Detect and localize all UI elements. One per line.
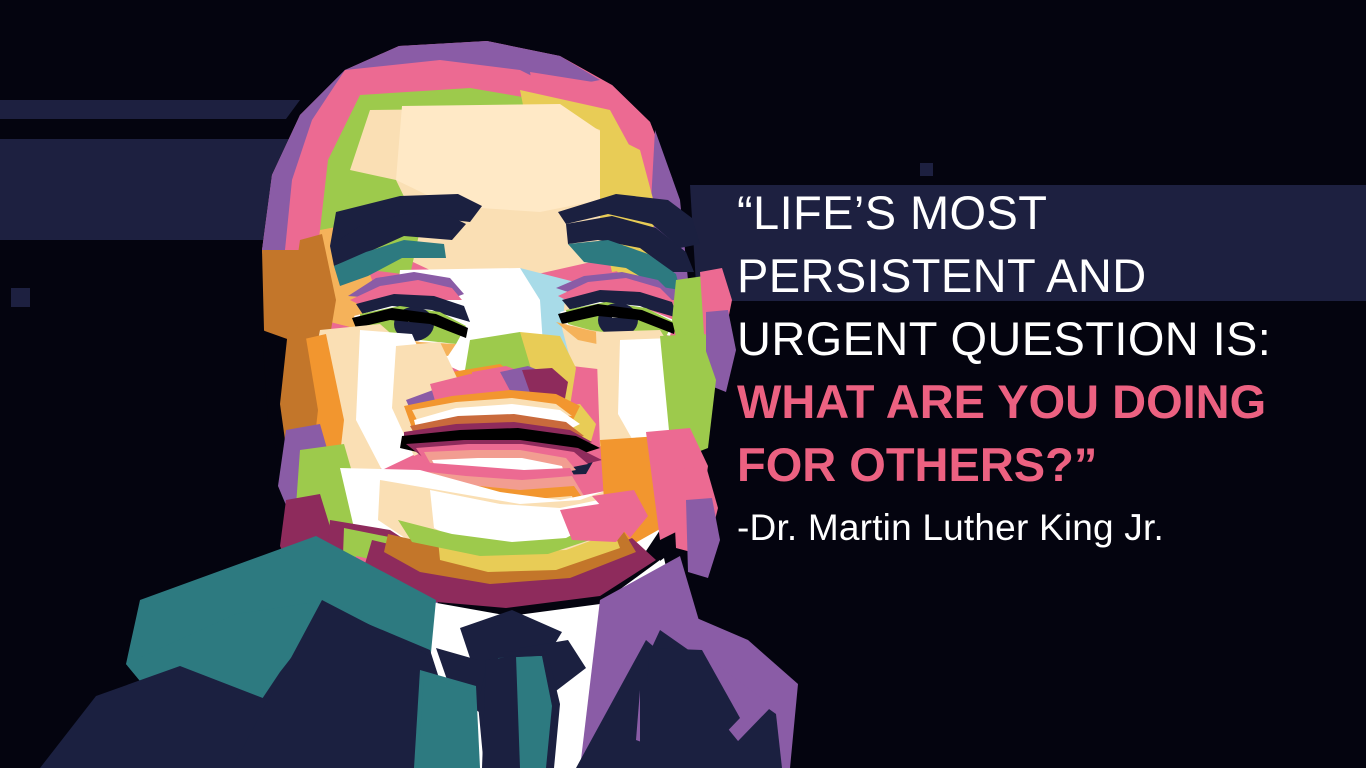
quote-attribution: -Dr. Martin Luther King Jr. (737, 505, 1164, 551)
poster-canvas: “LIFE’S MOST PERSISTENT AND URGENT QUEST… (0, 0, 1366, 768)
quote-line-3: URGENT QUESTION IS: (737, 307, 1337, 370)
quote-line-4: WHAT ARE YOU DOING (737, 370, 1337, 433)
quote-line-2: PERSISTENT AND (737, 244, 1337, 307)
quote-line-1: “LIFE’S MOST (737, 181, 1337, 244)
quote-block: “LIFE’S MOST PERSISTENT AND URGENT QUEST… (737, 181, 1337, 496)
quote-line-5: FOR OTHERS?” (737, 433, 1337, 496)
